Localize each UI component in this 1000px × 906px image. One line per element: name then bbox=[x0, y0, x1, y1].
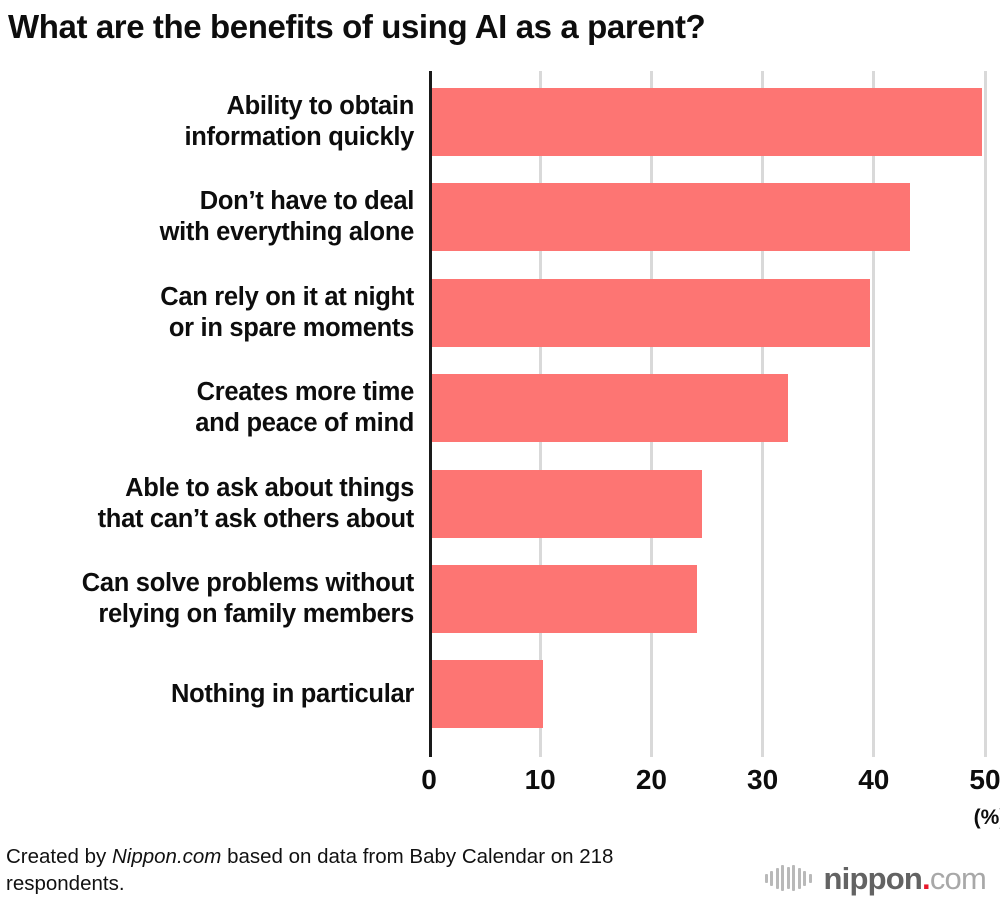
wave-bar bbox=[765, 874, 768, 883]
category-label-line: Don’t have to deal bbox=[0, 186, 414, 217]
bar-fill bbox=[432, 660, 543, 728]
bar bbox=[432, 88, 982, 156]
logo-name: nippon bbox=[824, 861, 923, 896]
bar-fill bbox=[432, 279, 870, 347]
category-label: Don’t have to dealwith everything alone bbox=[0, 186, 414, 248]
bar-fill bbox=[432, 470, 702, 538]
category-label-line: Can solve problems without bbox=[0, 568, 414, 599]
wave-bar bbox=[770, 871, 773, 886]
category-label-line: with everything alone bbox=[0, 217, 414, 248]
wave-bar bbox=[798, 868, 801, 889]
wave-bar bbox=[803, 871, 806, 886]
category-label: Nothing in particular bbox=[0, 679, 414, 710]
category-label: Ability to obtaininformation quickly bbox=[0, 91, 414, 153]
category-label: Can solve problems withoutrelying on fam… bbox=[0, 568, 414, 630]
category-label-line: Ability to obtain bbox=[0, 91, 414, 122]
bar bbox=[432, 470, 702, 538]
source-note: Created by Nippon.com based on data from… bbox=[6, 843, 736, 897]
bar-fill bbox=[432, 565, 697, 633]
x-tick-20: 20 bbox=[606, 764, 696, 796]
audio-wave-icon bbox=[765, 865, 812, 891]
category-label: Able to ask about thingsthat can’t ask o… bbox=[0, 473, 414, 535]
bar-fill bbox=[432, 88, 982, 156]
page-title: What are the benefits of using AI as a p… bbox=[8, 8, 978, 46]
source-note-prefix: Created by bbox=[6, 845, 112, 868]
nippon-logo[interactable]: nippon.com bbox=[765, 860, 987, 896]
bar-fill bbox=[432, 374, 788, 442]
wave-bar bbox=[787, 867, 790, 889]
logo-wordmark: nippon.com bbox=[824, 863, 987, 894]
wave-bar bbox=[776, 868, 779, 889]
category-label-line: and peace of mind bbox=[0, 408, 414, 439]
category-label-line: Nothing in particular bbox=[0, 679, 414, 710]
wave-bar bbox=[781, 865, 784, 891]
wave-bar bbox=[792, 865, 795, 891]
category-label: Can rely on it at nightor in spare momen… bbox=[0, 282, 414, 344]
x-tick-40: 40 bbox=[829, 764, 919, 796]
category-label-line: or in spare moments bbox=[0, 313, 414, 344]
logo-dot: . bbox=[922, 861, 930, 896]
bar bbox=[432, 279, 870, 347]
logo-tld: com bbox=[930, 861, 986, 896]
x-tick-0: 0 bbox=[384, 764, 474, 796]
chart-plot-area bbox=[429, 71, 985, 757]
category-label-line: Able to ask about things bbox=[0, 473, 414, 504]
category-label-line: information quickly bbox=[0, 122, 414, 153]
x-axis-unit-label: (%) bbox=[960, 806, 1000, 830]
category-label-line: Creates more time bbox=[0, 377, 414, 408]
bar bbox=[432, 565, 697, 633]
gridline-50 bbox=[984, 71, 987, 757]
gridline-40 bbox=[872, 71, 875, 757]
bar bbox=[432, 374, 788, 442]
category-label-line: relying on family members bbox=[0, 599, 414, 630]
bar bbox=[432, 183, 910, 251]
x-tick-30: 30 bbox=[718, 764, 808, 796]
x-tick-10: 10 bbox=[495, 764, 585, 796]
category-label-line: Can rely on it at night bbox=[0, 282, 414, 313]
bar-fill bbox=[432, 183, 910, 251]
wave-bar bbox=[809, 874, 812, 883]
category-label-line: that can’t ask others about bbox=[0, 504, 414, 535]
bar bbox=[432, 660, 543, 728]
source-note-publisher: Nippon.com bbox=[112, 845, 221, 868]
x-tick-50: 50 bbox=[940, 764, 1000, 796]
category-label: Creates more timeand peace of mind bbox=[0, 377, 414, 439]
